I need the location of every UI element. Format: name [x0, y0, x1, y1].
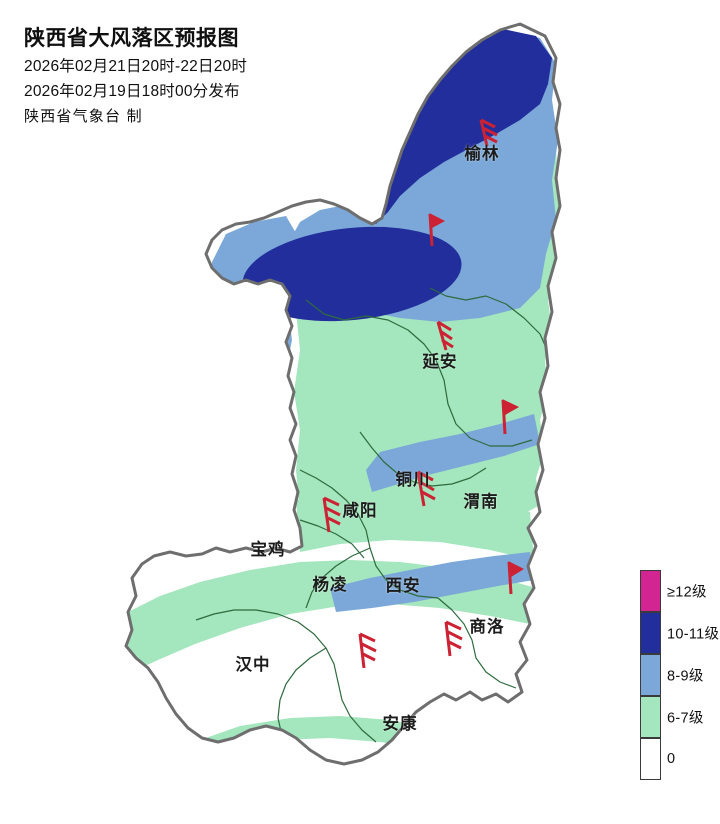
forecast-map-page: 陕西省大风落区预报图 2026年02月21日20时-22日20时 2026年02… [0, 0, 720, 824]
legend-label: 8-9级 [667, 665, 704, 686]
legend-color-swatch [640, 654, 661, 696]
legend-row: 0 [638, 738, 716, 780]
legend-row: 6-7级 [638, 696, 716, 738]
city-label: 汉中 [236, 651, 271, 675]
city-label: 榆林 [465, 140, 500, 164]
legend-row: 8-9级 [638, 654, 716, 696]
city-label: 西安 [386, 572, 421, 596]
wind-level-legend: ≥12级10-11级8-9级6-7级0 [638, 570, 716, 780]
legend-color-swatch [640, 696, 661, 738]
legend-label: ≥12级 [667, 581, 707, 602]
city-label: 商洛 [470, 613, 505, 637]
legend-color-swatch [640, 738, 661, 780]
legend-label: 10-11级 [667, 623, 719, 644]
legend-label: 6-7级 [667, 707, 704, 728]
legend-color-swatch [640, 570, 661, 612]
city-label: 宝鸡 [251, 536, 286, 560]
legend-color-swatch [640, 612, 661, 654]
city-label: 延安 [423, 348, 458, 372]
legend-row: ≥12级 [638, 570, 716, 612]
city-label: 渭南 [464, 488, 499, 512]
legend-label: 0 [667, 751, 675, 767]
city-label: 安康 [383, 710, 418, 734]
legend-row: 10-11级 [638, 612, 716, 654]
shaanxi-wind-map: 榆林延安铜川渭南咸阳宝鸡杨凌西安商洛汉中安康 [0, 0, 640, 824]
city-label: 咸阳 [343, 497, 378, 521]
city-label: 铜川 [396, 466, 431, 490]
city-label: 杨凌 [313, 571, 348, 595]
